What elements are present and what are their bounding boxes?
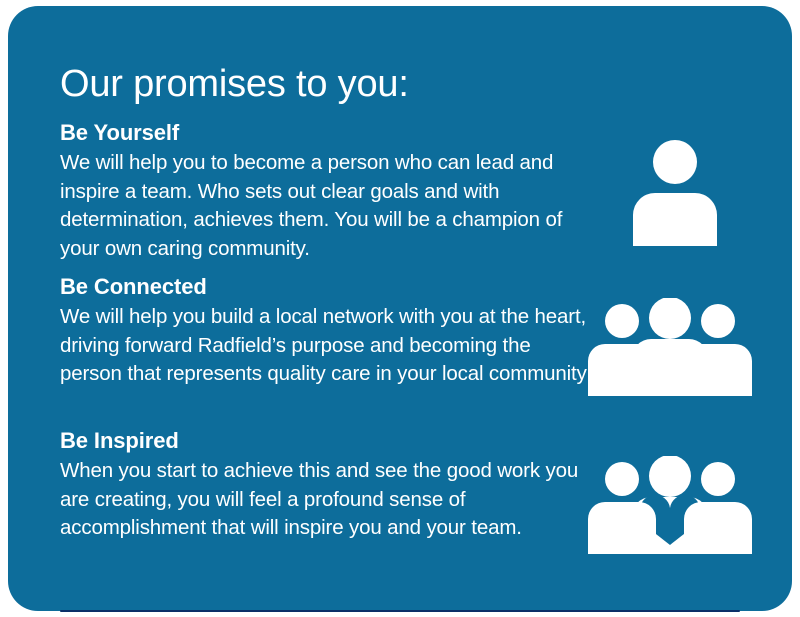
promise-block-be-inspired: Be Inspired When you start to achieve th… — [60, 426, 590, 543]
promise-heading: Be Inspired — [60, 426, 590, 455]
promise-body: When you start to achieve this and see t… — [60, 457, 590, 543]
promise-heading: Be Connected — [60, 272, 590, 301]
card-bottom-rule — [60, 610, 740, 612]
single-person-icon — [620, 138, 730, 250]
promise-body: We will help you build a local network w… — [60, 303, 590, 389]
promise-block-be-yourself: Be Yourself We will help you to become a… — [60, 118, 590, 263]
promise-heading: Be Yourself — [60, 118, 590, 147]
group-of-three-people-with-heart-icon — [582, 456, 758, 556]
promises-card: Our promises to you: Be Yourself We will… — [8, 6, 792, 611]
page-title: Our promises to you: — [60, 61, 409, 107]
group-of-three-people-icon — [582, 298, 758, 398]
promise-body: We will help you to become a person who … — [60, 149, 590, 263]
promise-block-be-connected: Be Connected We will help you build a lo… — [60, 272, 590, 389]
